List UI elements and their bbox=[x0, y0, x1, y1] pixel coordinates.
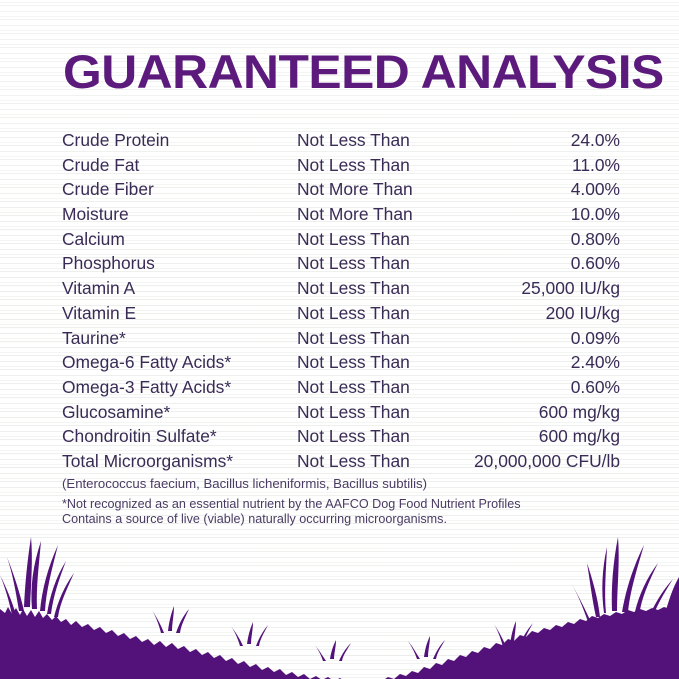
nutrient-qualifier: Not Less Than bbox=[297, 350, 457, 375]
nutrient-value: 600 mg/kg bbox=[457, 424, 620, 449]
nutrient-value: 0.60% bbox=[457, 375, 620, 400]
table-row: Omega-3 Fatty Acids* Not Less Than 0.60% bbox=[62, 375, 620, 400]
nutrient-qualifier: Not Less Than bbox=[297, 276, 457, 301]
nutrient-qualifier: Not Less Than bbox=[297, 424, 457, 449]
nutrient-value: 600 mg/kg bbox=[457, 400, 620, 425]
nutrient-name: Crude Fiber bbox=[62, 177, 297, 202]
nutrient-qualifier: Not Less Than bbox=[297, 449, 457, 474]
nutrient-name: Calcium bbox=[62, 227, 297, 252]
nutrient-value: 0.80% bbox=[457, 227, 620, 252]
nutrient-value: 24.0% bbox=[457, 128, 620, 153]
nutrient-name: Taurine* bbox=[62, 326, 297, 351]
nutrient-name: Phosphorus bbox=[62, 251, 297, 276]
organism-list-note: (Enterococcus faecium, Bacillus lichenif… bbox=[62, 476, 427, 492]
analysis-table: Crude Protein Not Less Than 24.0% Crude … bbox=[62, 128, 620, 474]
nutrient-qualifier: Not Less Than bbox=[297, 301, 457, 326]
nutrient-name: Glucosamine* bbox=[62, 400, 297, 425]
table-row: Glucosamine* Not Less Than 600 mg/kg bbox=[62, 400, 620, 425]
nutrient-value: 4.00% bbox=[457, 177, 620, 202]
table-row: Taurine* Not Less Than 0.09% bbox=[62, 326, 620, 351]
page-title: GUARANTEED ANALYSIS bbox=[63, 47, 652, 96]
nutrient-name: Omega-3 Fatty Acids* bbox=[62, 375, 297, 400]
nutrient-qualifier: Not Less Than bbox=[297, 251, 457, 276]
nutrient-qualifier: Not Less Than bbox=[297, 375, 457, 400]
table-row: Moisture Not More Than 10.0% bbox=[62, 202, 620, 227]
nutrient-qualifier: Not More Than bbox=[297, 177, 457, 202]
table-row: Phosphorus Not Less Than 0.60% bbox=[62, 251, 620, 276]
table-row: Chondroitin Sulfate* Not Less Than 600 m… bbox=[62, 424, 620, 449]
table-row: Crude Protein Not Less Than 24.0% bbox=[62, 128, 620, 153]
table-row: Vitamin A Not Less Than 25,000 IU/kg bbox=[62, 276, 620, 301]
nutrient-qualifier: Not Less Than bbox=[297, 128, 457, 153]
nutrient-value: 2.40% bbox=[457, 350, 620, 375]
nutrient-qualifier: Not Less Than bbox=[297, 400, 457, 425]
nutrient-value: 200 IU/kg bbox=[457, 301, 620, 326]
table-row: Crude Fat Not Less Than 11.0% bbox=[62, 153, 620, 178]
nutrient-value: 25,000 IU/kg bbox=[457, 276, 620, 301]
nutrient-value: 20,000,000 CFU/lb bbox=[457, 449, 620, 474]
nutrient-name: Omega-6 Fatty Acids* bbox=[62, 350, 297, 375]
grass-silhouette-icon bbox=[0, 519, 679, 679]
nutrient-name: Total Microorganisms* bbox=[62, 449, 297, 474]
nutrient-name: Crude Protein bbox=[62, 128, 297, 153]
nutrient-name: Vitamin A bbox=[62, 276, 297, 301]
nutrient-qualifier: Not More Than bbox=[297, 202, 457, 227]
nutrient-name: Crude Fat bbox=[62, 153, 297, 178]
nutrient-name: Vitamin E bbox=[62, 301, 297, 326]
nutrient-value: 0.09% bbox=[457, 326, 620, 351]
nutrient-qualifier: Not Less Than bbox=[297, 326, 457, 351]
table-row: Crude Fiber Not More Than 4.00% bbox=[62, 177, 620, 202]
table-row: Omega-6 Fatty Acids* Not Less Than 2.40% bbox=[62, 350, 620, 375]
nutrient-value: 0.60% bbox=[457, 251, 620, 276]
nutrient-name: Moisture bbox=[62, 202, 297, 227]
guaranteed-analysis-label: GUARANTEED ANALYSIS Crude Protein Not Le… bbox=[0, 0, 679, 679]
table-row: Calcium Not Less Than 0.80% bbox=[62, 227, 620, 252]
table-row: Total Microorganisms* Not Less Than 20,0… bbox=[62, 449, 620, 474]
nutrient-value: 11.0% bbox=[457, 153, 620, 178]
nutrient-qualifier: Not Less Than bbox=[297, 153, 457, 178]
nutrient-qualifier: Not Less Than bbox=[297, 227, 457, 252]
nutrient-value: 10.0% bbox=[457, 202, 620, 227]
table-row: Vitamin E Not Less Than 200 IU/kg bbox=[62, 301, 620, 326]
nutrient-name: Chondroitin Sulfate* bbox=[62, 424, 297, 449]
footnote-aafco: *Not recognized as an essential nutrient… bbox=[62, 497, 622, 512]
